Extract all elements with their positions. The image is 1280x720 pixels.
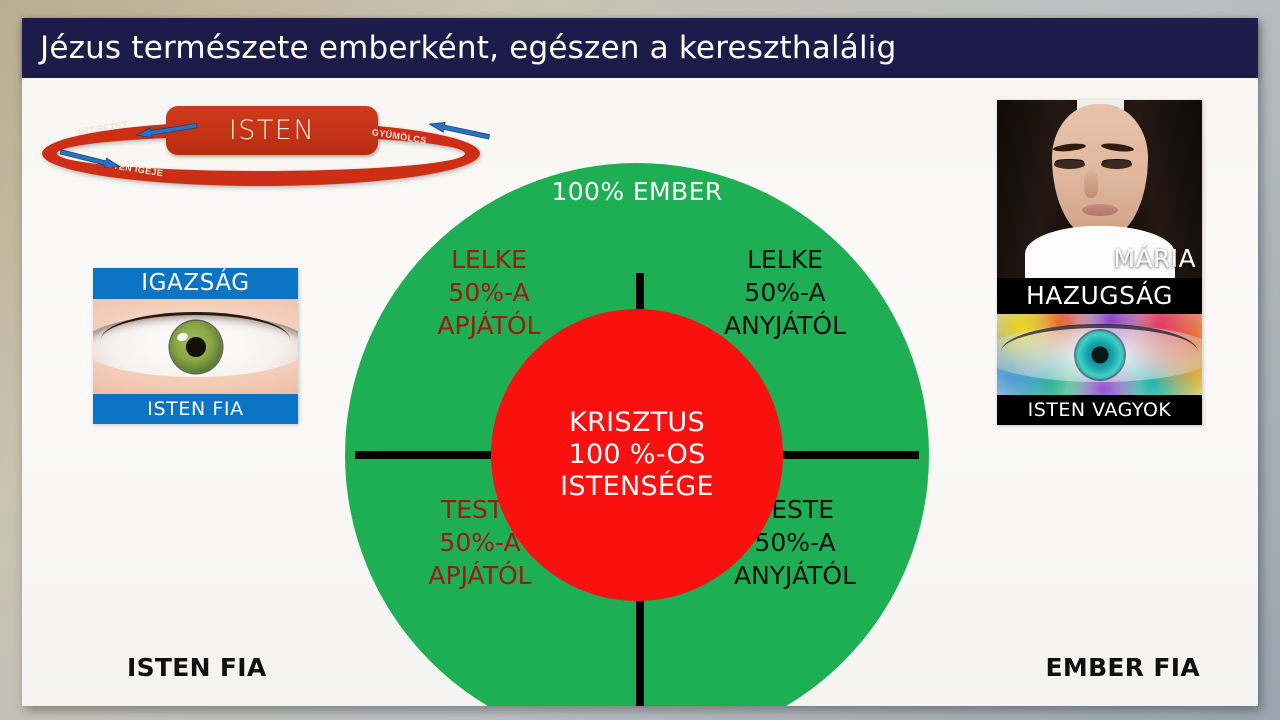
center-line-1: KRISZTUS xyxy=(569,407,705,439)
nose-shape xyxy=(1084,170,1098,198)
maria-label: MÁRIA xyxy=(1113,244,1196,273)
center-line-3: ISTENSÉGE xyxy=(560,471,714,503)
quadrant-line-1: LELKE xyxy=(389,243,589,276)
face-shape xyxy=(1052,104,1148,238)
slide-content: ISTEN SZERETET GYÜMÖLCS ISTEN IGÉJE xyxy=(22,78,1258,706)
lie-card-bottom-bar: ISTEN VAGYOK xyxy=(997,395,1202,425)
quadrant-top-left: LELKE 50%-A APJÁTÓL xyxy=(389,243,589,342)
page-title: Jézus természete emberként, egészen a ke… xyxy=(40,30,896,66)
nature-wheel-diagram: 100% EMBER LELKE 50%-A APJÁTÓL LELKE 50%… xyxy=(345,163,929,706)
divider-line-right xyxy=(783,451,919,459)
mosaic-eye-image xyxy=(997,314,1202,395)
isten-label-box: ISTEN xyxy=(166,106,378,155)
truth-card: IGAZSÁG ISTEN FIA xyxy=(93,268,298,424)
quadrant-line-1: LELKE xyxy=(685,243,885,276)
green-eye-image xyxy=(93,299,298,394)
truth-card-header: IGAZSÁG xyxy=(93,268,298,299)
footer-label-left: ISTEN FIA xyxy=(127,653,267,682)
woman-portrait-image: MÁRIA xyxy=(997,100,1202,278)
wheel-top-label: 100% EMBER xyxy=(345,177,929,206)
lips-shape xyxy=(1082,204,1118,216)
lie-card-middle-bar: HAZUGSÁG xyxy=(997,278,1202,314)
quadrant-line-2: 50%-A xyxy=(389,276,589,309)
divider-line-left xyxy=(355,451,491,459)
isten-label: ISTEN xyxy=(229,115,315,146)
slide-canvas: Jézus természete emberként, egészen a ke… xyxy=(22,18,1258,706)
mosaic-eye-pupil xyxy=(1091,346,1108,363)
lie-card: MÁRIA HAZUGSÁG ISTEN VAGYOK xyxy=(997,100,1202,425)
center-line-2: 100 %-OS xyxy=(568,439,705,471)
quadrant-top-right: LELKE 50%-A ANYJÁTÓL xyxy=(685,243,885,342)
quadrant-line-2: 50%-A xyxy=(685,276,885,309)
eye-pupil xyxy=(186,337,206,357)
divine-nature-circle: KRISZTUS 100 %-OS ISTENSÉGE xyxy=(491,309,783,601)
portrait-eye-right xyxy=(1101,160,1132,169)
truth-card-footer: ISTEN FIA xyxy=(93,394,298,424)
footer-label-right: EMBER FIA xyxy=(1046,653,1200,682)
slide-title-bar: Jézus természete emberként, egészen a ke… xyxy=(22,18,1258,78)
portrait-eye-left xyxy=(1054,160,1085,169)
